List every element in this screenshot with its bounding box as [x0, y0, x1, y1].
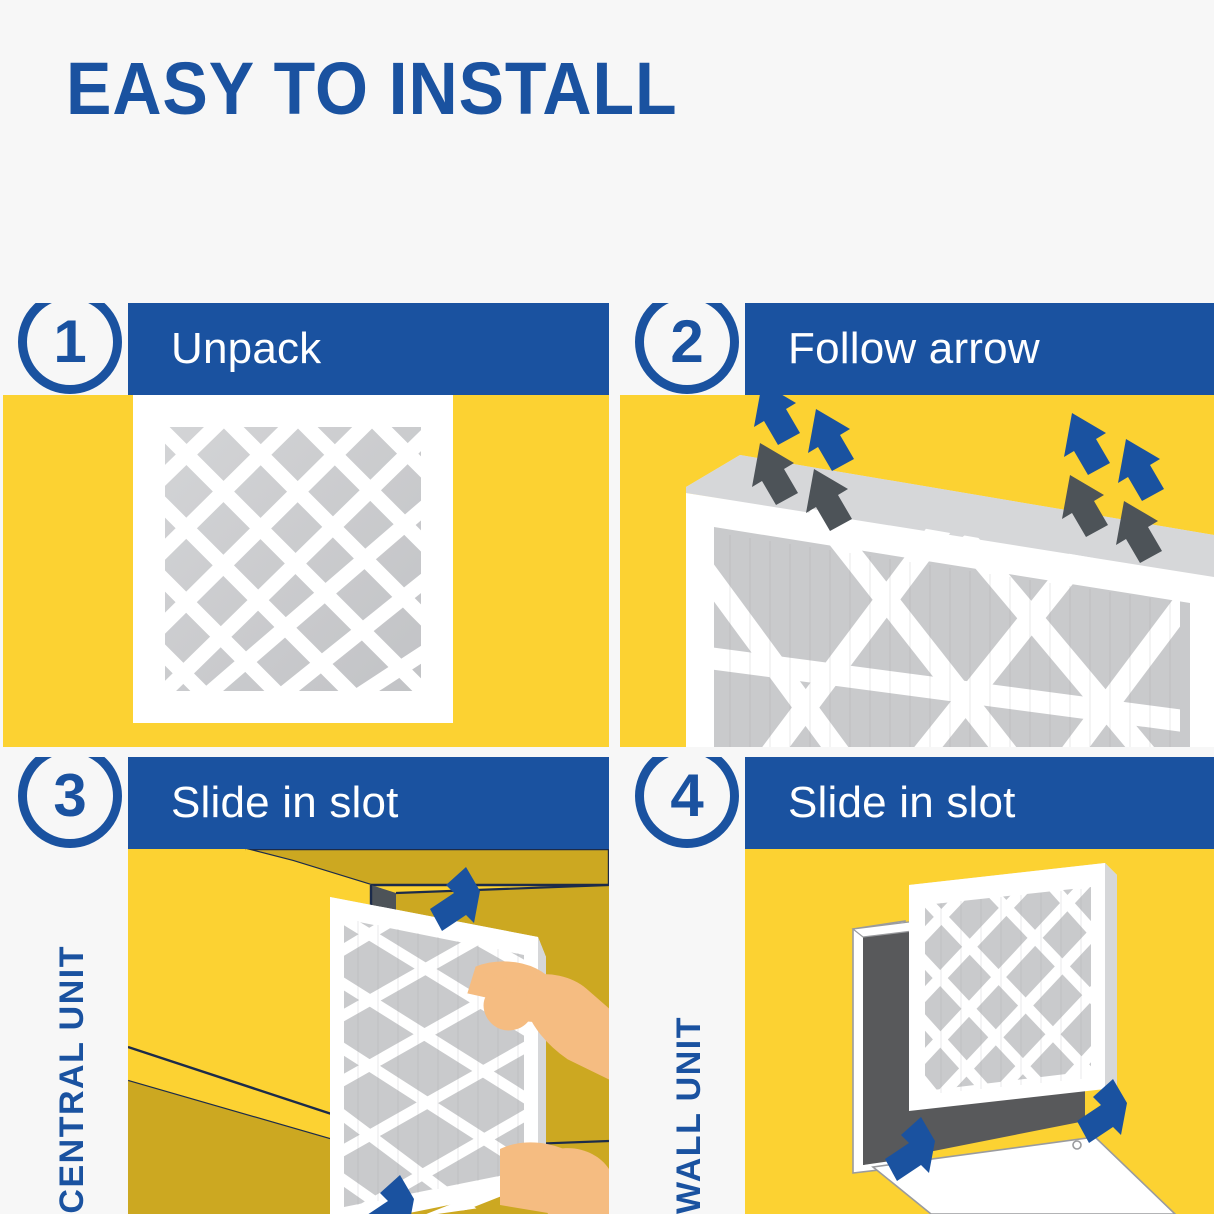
step-3-illustration-area: [128, 849, 609, 1214]
step-1-number-badge: 1: [18, 303, 122, 394]
step-4-number-badge: 4: [635, 757, 739, 848]
page-title: EASY TO INSTALL: [66, 52, 677, 126]
step-4-number: 4: [644, 757, 730, 839]
step-1-header: Unpack 1: [3, 303, 609, 395]
tilted-filter-illustration: [620, 395, 1214, 747]
step-2-number: 2: [644, 303, 730, 385]
step-4-side-label-text: WALL UNIT: [670, 1010, 709, 1214]
step-1-label: Unpack: [171, 303, 321, 395]
step-4-header: Slide in slot 4: [620, 757, 1214, 849]
step-2-header: Follow arrow 2: [620, 303, 1214, 395]
step-4-side-label: WALL UNIT: [654, 857, 724, 1214]
step-2-label: Follow arrow: [788, 303, 1040, 395]
step-3-side-label-text: CENTRAL UNIT: [53, 939, 92, 1214]
step-3-side-label: CENTRAL UNIT: [37, 857, 107, 1214]
step-4-illustration-area: [745, 849, 1214, 1214]
step-3-label: Slide in slot: [171, 757, 399, 849]
step-panel-4: WALL UNIT: [620, 757, 1214, 1214]
step-3-header: Slide in slot 3: [3, 757, 609, 849]
step-1-illustration-area: [3, 395, 609, 747]
step-2-number-badge: 2: [635, 303, 739, 394]
step-panel-2: Follow arrow 2: [620, 303, 1214, 747]
step-4-label: Slide in slot: [788, 757, 1016, 849]
step-panel-3: CENTRAL UNIT: [3, 757, 609, 1214]
step-3-number-badge: 3: [18, 757, 122, 848]
step-2-illustration-area: [620, 395, 1214, 747]
step-panel-1: Unpack 1: [3, 303, 609, 747]
wall-unit-illustration: [745, 849, 1214, 1214]
central-unit-illustration: [128, 849, 609, 1214]
step-1-number: 1: [27, 303, 113, 385]
step-3-number: 3: [27, 757, 113, 839]
infographic-page: EASY TO INSTALL: [0, 0, 1214, 1214]
filter-panel-inserted: [909, 863, 1117, 1117]
flat-filter-illustration: [3, 395, 609, 747]
